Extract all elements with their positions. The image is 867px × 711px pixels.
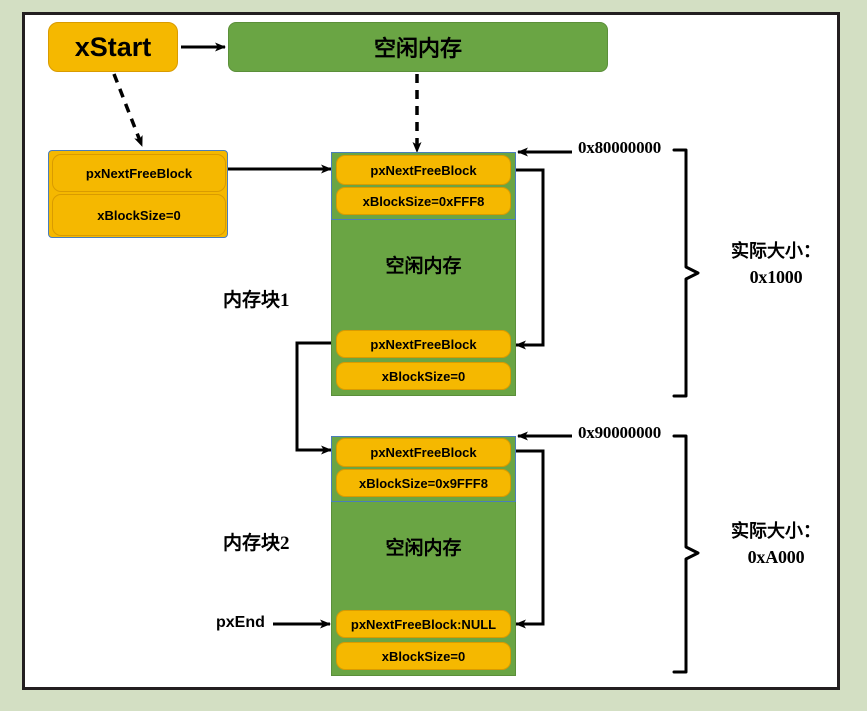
block2-actual-size-value: 0xA000 xyxy=(706,544,846,570)
block1-bottom-next-free-block-slot[interactable]: pxNextFreeBlock xyxy=(336,330,511,358)
pxend-label: pxEnd xyxy=(216,614,265,632)
block1-address-label: 0x80000000 xyxy=(578,138,661,158)
block2-actual-size-label: 实际大小： 0xA000 xyxy=(706,518,846,570)
xstart-next-free-block-slot[interactable]: pxNextFreeBlock xyxy=(52,154,226,192)
block2-bottom-block-size-slot[interactable]: xBlockSize=0 xyxy=(336,642,511,670)
block2-caption: 内存块2 xyxy=(223,528,290,555)
block1-actual-size-caption: 实际大小： xyxy=(706,238,846,264)
block1-top-next-free-block-slot[interactable]: pxNextFreeBlock xyxy=(336,155,511,185)
xstart-block-size-slot[interactable]: xBlockSize=0 xyxy=(52,194,226,236)
block1-bottom-block-size-slot[interactable]: xBlockSize=0 xyxy=(336,362,511,390)
diagram-canvas: xStart 空闲内存 pxNextFreeBlock xBlockSize=0… xyxy=(0,0,867,711)
block2-top-next-free-block-slot[interactable]: pxNextFreeBlock xyxy=(336,438,511,467)
block2-actual-size-caption: 实际大小： xyxy=(706,518,846,544)
free-memory-header[interactable]: 空闲内存 xyxy=(228,22,608,72)
xstart-struct-group[interactable]: pxNextFreeBlock xBlockSize=0 xyxy=(48,150,228,238)
block1-top-block-size-slot[interactable]: xBlockSize=0xFFF8 xyxy=(336,187,511,215)
xstart-pill[interactable]: xStart xyxy=(48,22,178,72)
block1-actual-size-value: 0x1000 xyxy=(706,264,846,290)
block2-top-block-size-slot[interactable]: xBlockSize=0x9FFF8 xyxy=(336,469,511,497)
block2-free-memory-label: 空闲内存 xyxy=(332,533,515,560)
block2-bottom-next-free-block-slot[interactable]: pxNextFreeBlock:NULL xyxy=(336,610,511,638)
block1-caption: 内存块1 xyxy=(223,285,290,312)
block1-actual-size-label: 实际大小： 0x1000 xyxy=(706,238,846,290)
block2-address-label: 0x90000000 xyxy=(578,423,661,443)
block1-free-memory-label: 空闲内存 xyxy=(332,251,515,278)
